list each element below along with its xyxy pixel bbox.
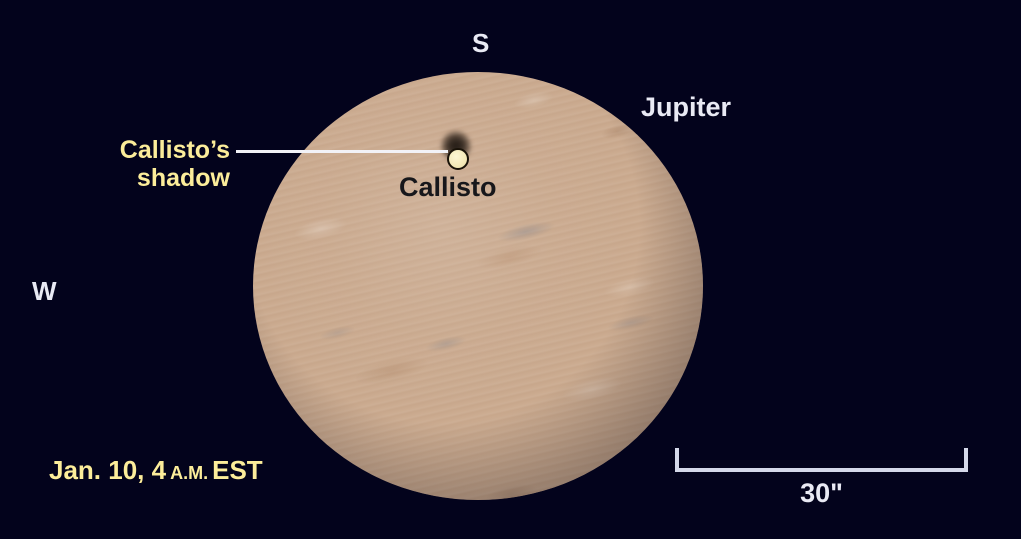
callisto-shadow-label-line1: Callisto’s — [120, 136, 230, 164]
jupiter-limb-shading — [253, 72, 703, 500]
jupiter-callisto-diagram: Callisto’sshadow Callisto Jupiter S W Ja… — [0, 0, 1021, 539]
callisto-shadow-label-line2: shadow — [137, 164, 230, 192]
timestamp-label: Jan. 10, 4A.M.EST — [49, 455, 263, 486]
scale-bar — [675, 448, 968, 472]
direction-label-south: S — [472, 28, 489, 59]
callisto-label: Callisto — [399, 172, 497, 203]
timestamp-meridiem: A.M. — [170, 463, 208, 484]
callisto-shadow-leader-line — [236, 150, 448, 153]
scale-bar-label: 30" — [675, 478, 968, 509]
callisto-shadow-label: Callisto’sshadow — [104, 136, 230, 192]
callisto-moon-disk — [447, 148, 469, 170]
timestamp-date: Jan. 10, — [49, 455, 144, 486]
timestamp-hour: 4 — [152, 455, 166, 486]
jupiter-label: Jupiter — [641, 92, 731, 123]
direction-label-west: W — [32, 276, 57, 307]
scale-bar-rail — [675, 468, 968, 472]
timestamp-zone: EST — [212, 455, 263, 486]
jupiter-planet — [253, 72, 703, 500]
jupiter-disk — [253, 72, 703, 500]
scale-bar-tick-right — [964, 448, 968, 472]
